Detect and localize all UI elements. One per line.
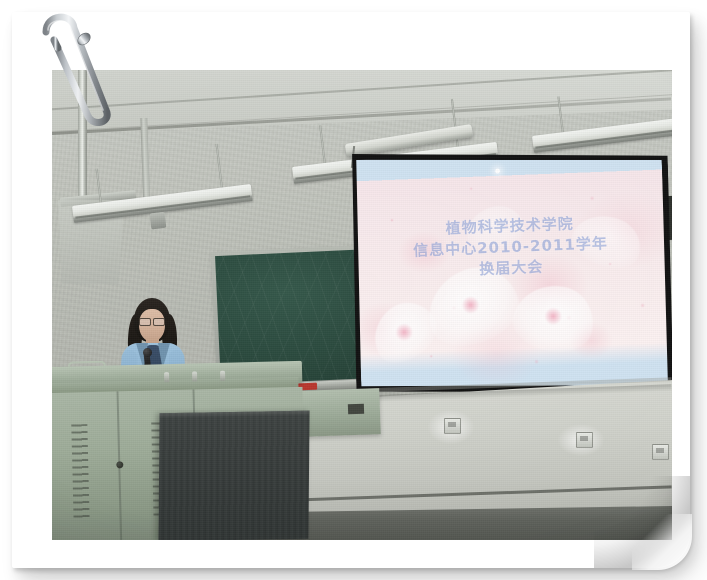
slide-title-block: 植物科学技术学院 信息中心2010-2011学年 换届大会 xyxy=(355,210,666,286)
desk-mic-base xyxy=(164,372,169,382)
wall-socket xyxy=(652,444,669,460)
lectern-vent xyxy=(71,424,89,520)
projected-slide: 植物科学技术学院 信息中心2010-2011学年 换届大会 xyxy=(353,148,671,397)
wall-socket xyxy=(444,418,461,434)
projection-screen: 植物科学技术学院 信息中心2010-2011学年 换届大会 xyxy=(347,142,672,404)
wall-socket xyxy=(576,432,593,448)
ceiling-pipe xyxy=(78,70,87,208)
glasses xyxy=(139,318,165,324)
screenshot-stage: 植物科学技术学院 信息中心2010-2011学年 换届大会 xyxy=(0,0,707,580)
front-desk-panel xyxy=(158,411,309,540)
side-cabinet-edge xyxy=(348,404,364,415)
photograph: 植物科学技术学院 信息中心2010-2011学年 换届大会 xyxy=(52,70,672,540)
desk-mic-base xyxy=(220,371,225,381)
photo-frame: 植物科学技术学院 信息中心2010-2011学年 换届大会 xyxy=(12,12,690,568)
desk-mic-base xyxy=(192,371,197,381)
